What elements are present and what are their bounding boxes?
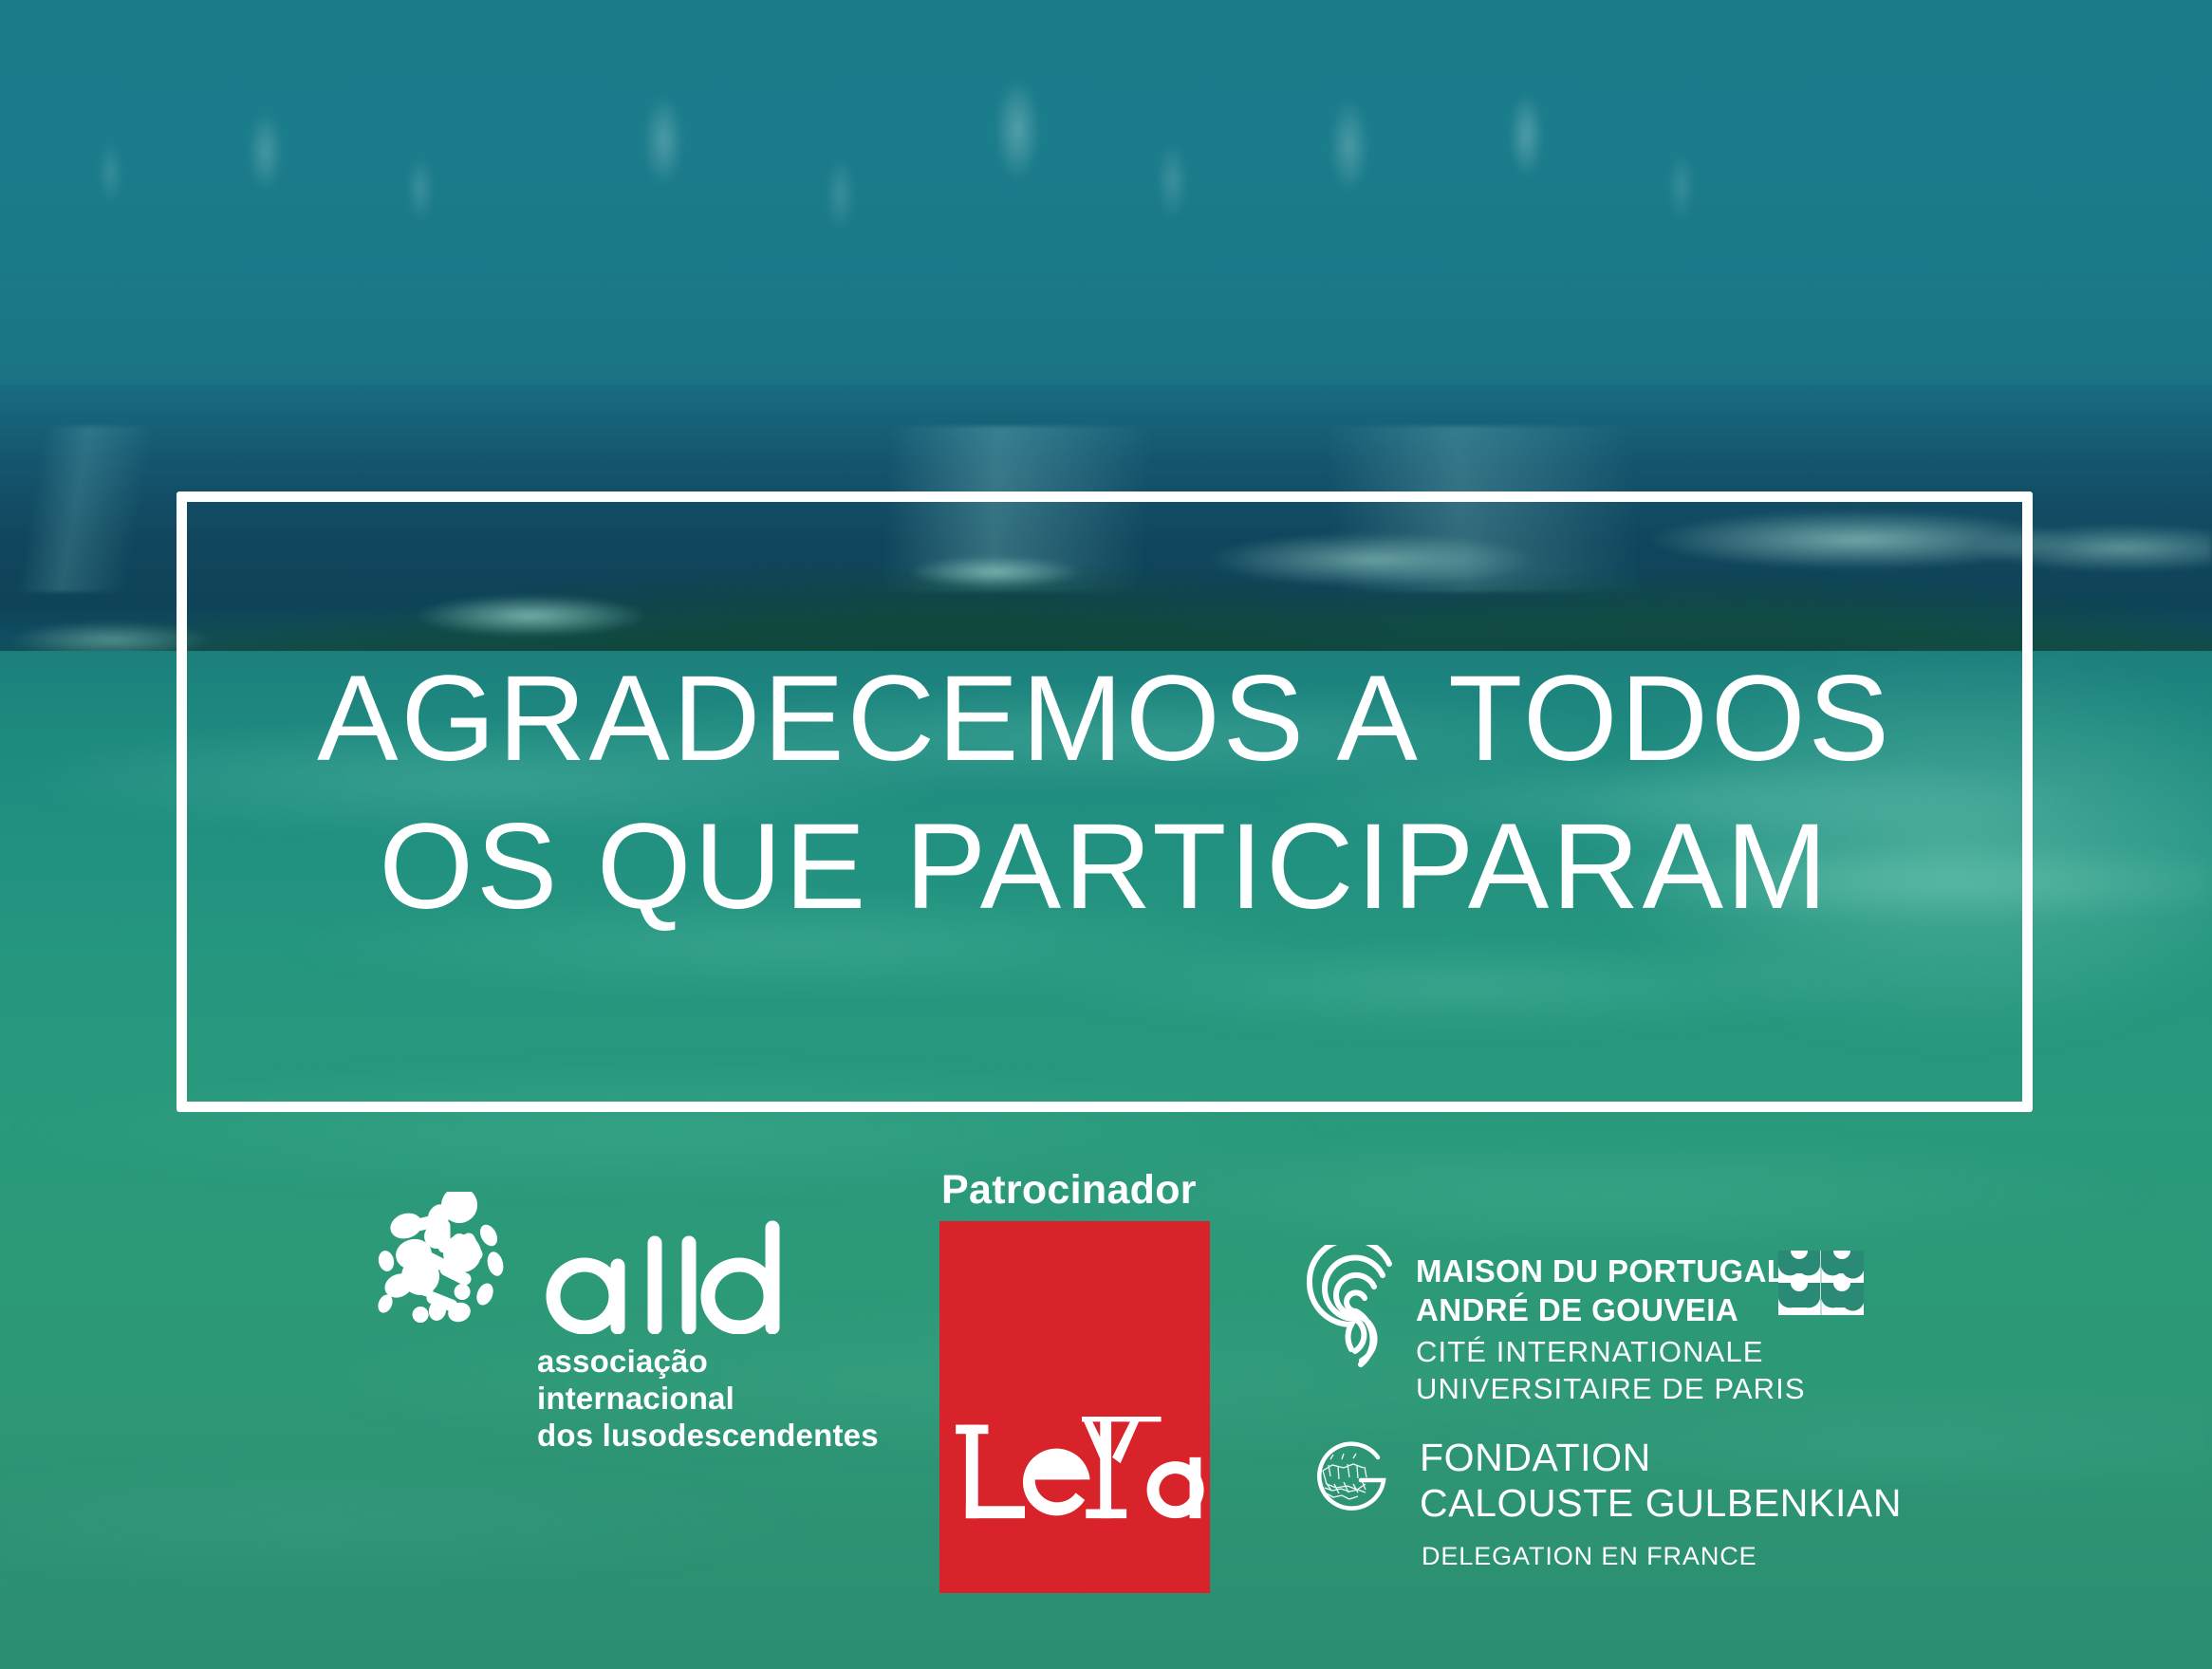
gulbenkian-line-2: CALOUSTE GULBENKIAN — [1420, 1480, 1902, 1526]
headline-line-2: OS QUE PARTICIPARAM — [177, 793, 2033, 941]
aild-wordmark — [537, 1216, 803, 1334]
gulbenkian-line-3: DELEGATION EN FRANCE — [1422, 1542, 1902, 1571]
aild-tagline-line-1: associação internacional — [537, 1344, 909, 1418]
gulbenkian-text: FONDATION CALOUSTE GULBENKIAN DELEGATION… — [1420, 1433, 1902, 1571]
sponsor-label: Patrocinador — [941, 1167, 1215, 1214]
sponsor-block: Patrocinador — [939, 1167, 1215, 1593]
aild-tagline-line-2: dos lusodescendentes — [537, 1418, 909, 1455]
spiral-c-icon — [1302, 1245, 1397, 1368]
gulbenkian-g-icon — [1310, 1437, 1401, 1528]
aild-tagline: associação internacional dos lusodescend… — [537, 1344, 909, 1455]
azulejo-tile-icon — [1778, 1251, 1864, 1315]
maison-line-3: CITÉ INTERNATIONALE — [1416, 1333, 1806, 1370]
logo-row: associação internacional dos lusodescend… — [0, 1167, 2212, 1613]
headline-line-1: AGRADECEMOS A TODOS — [177, 645, 2033, 793]
gulbenkian-logo: FONDATION CALOUSTE GULBENKIAN DELEGATION… — [1310, 1433, 1902, 1571]
leya-logo-box — [939, 1221, 1210, 1593]
aild-logo: associação internacional dos lusodescend… — [378, 1192, 909, 1455]
maison-line-2: ANDRÉ DE GOUVEIA — [1416, 1291, 1806, 1330]
gulbenkian-line-1: FONDATION — [1420, 1435, 1902, 1480]
leya-wordmark — [939, 1417, 1210, 1530]
aild-logo-top — [378, 1192, 909, 1334]
page-title: AGRADECEMOS A TODOS OS QUE PARTICIPARAM — [177, 645, 2033, 941]
maison-line-1: MAISON DU PORTUGAL — [1416, 1252, 1806, 1291]
slide-canvas: AGRADECEMOS A TODOS OS QUE PARTICIPARAM — [0, 0, 2212, 1669]
molecule-cluster-icon — [378, 1192, 520, 1334]
maison-line-4: UNIVERSITAIRE DE PARIS — [1416, 1370, 1806, 1407]
maison-text: MAISON DU PORTUGAL ANDRÉ DE GOUVEIA CITÉ… — [1416, 1245, 1806, 1408]
maison-du-portugal-logo: MAISON DU PORTUGAL ANDRÉ DE GOUVEIA CITÉ… — [1302, 1245, 1806, 1408]
